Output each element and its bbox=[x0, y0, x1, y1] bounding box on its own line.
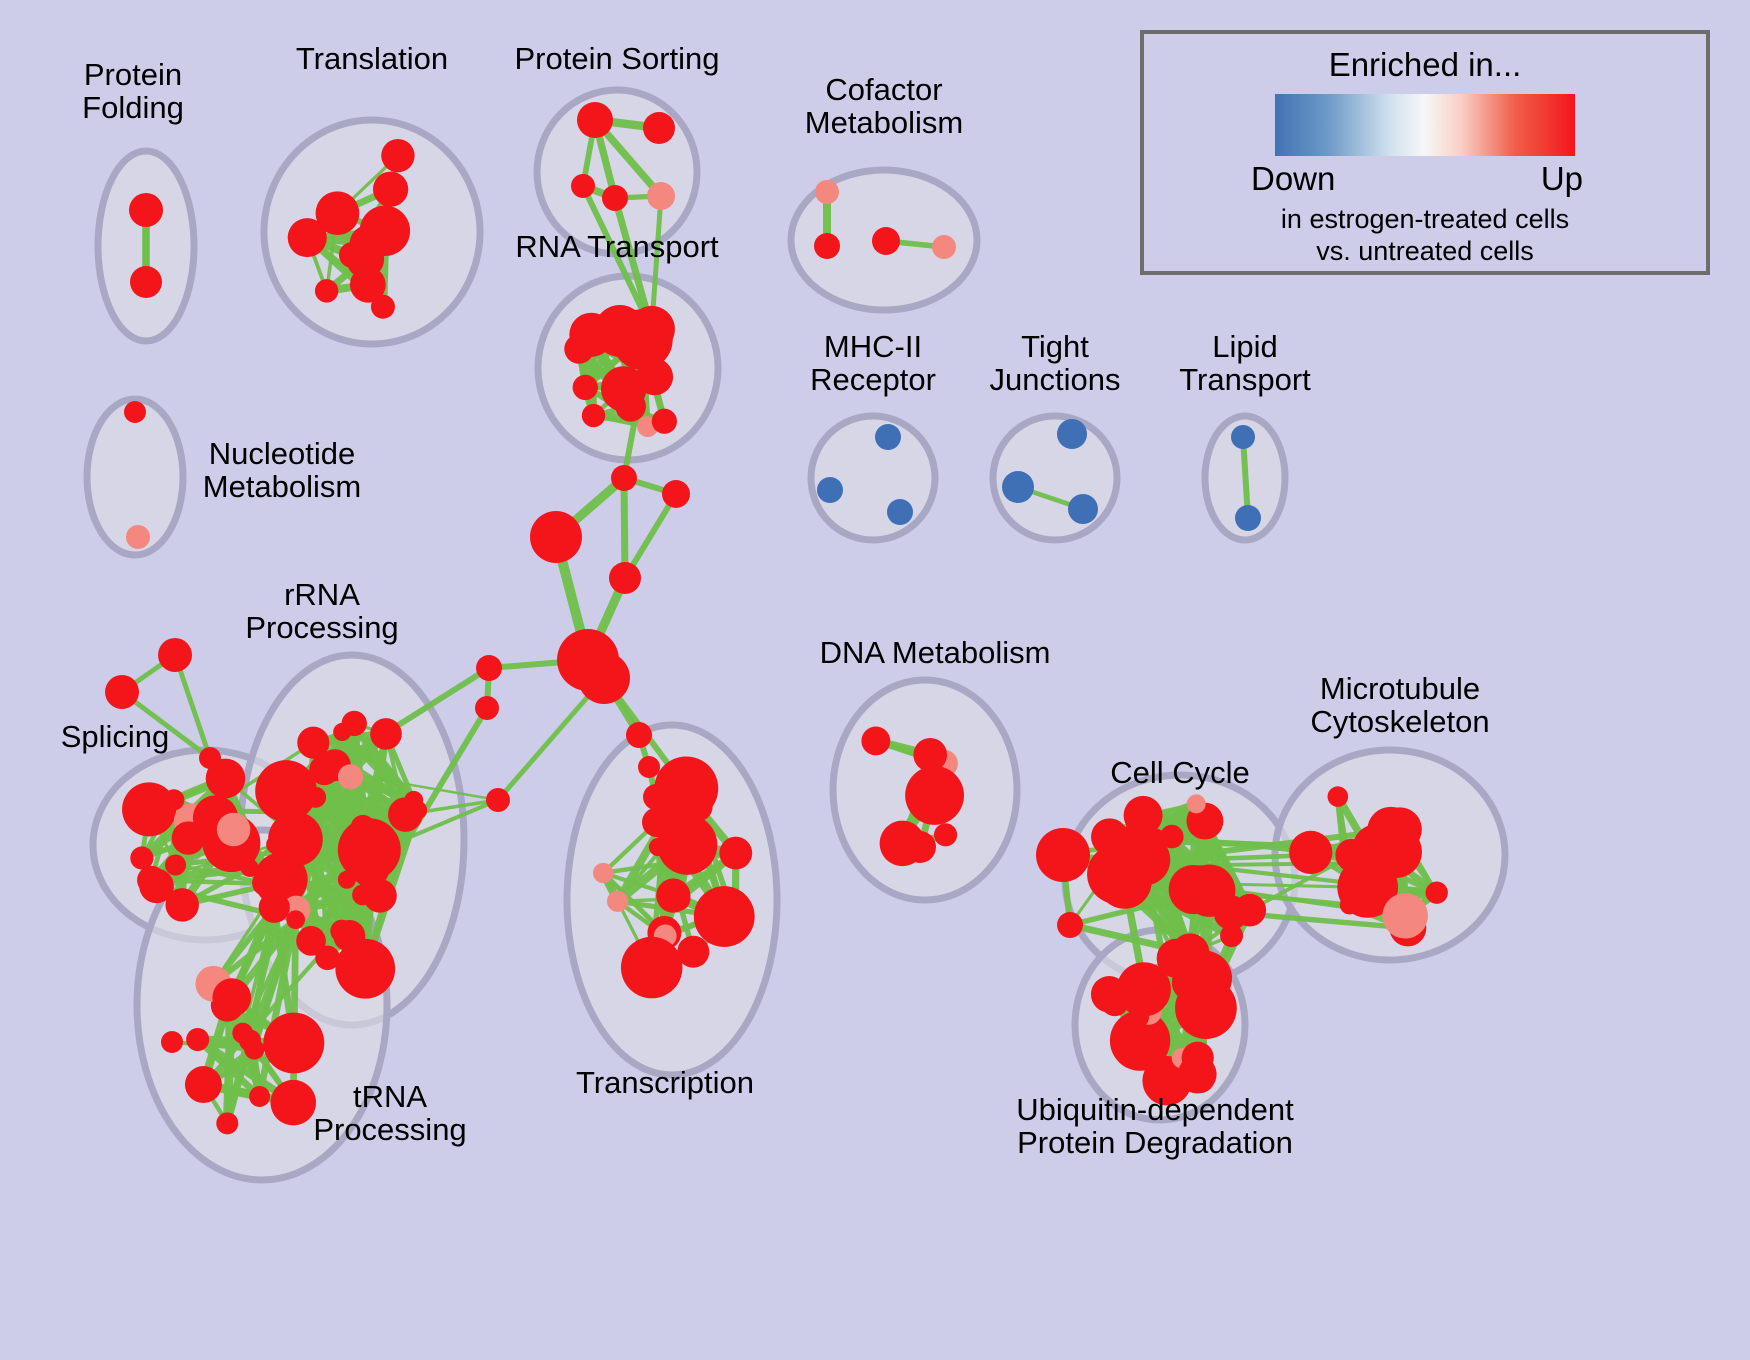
network-node bbox=[404, 791, 423, 810]
legend-caption-line2: vs. untreated cells bbox=[1144, 236, 1706, 266]
legend-color-bar bbox=[1275, 94, 1575, 156]
network-node bbox=[1002, 471, 1034, 503]
legend-title: Enriched in... bbox=[1144, 46, 1706, 84]
cluster-label-nucleotide-metabolism: Nucleotide Metabolism bbox=[203, 437, 362, 504]
network-node bbox=[161, 1031, 183, 1053]
network-node bbox=[1181, 955, 1211, 985]
cluster-label-tight-junctions: Tight Junctions bbox=[990, 330, 1121, 397]
legend-low-label: Down bbox=[1251, 160, 1335, 198]
network-node bbox=[1187, 794, 1206, 813]
network-node bbox=[217, 813, 251, 847]
network-node bbox=[647, 182, 675, 210]
network-node bbox=[330, 920, 353, 943]
network-figure: Protein FoldingTranslationProtein Sortin… bbox=[0, 0, 1750, 1360]
network-node bbox=[370, 718, 402, 750]
network-node bbox=[165, 888, 198, 921]
network-node bbox=[475, 696, 499, 720]
cluster-label-splicing: Splicing bbox=[61, 720, 170, 753]
legend-box: Enriched in... Down Up in estrogen-treat… bbox=[1140, 30, 1710, 275]
network-node bbox=[726, 912, 746, 932]
network-node bbox=[199, 747, 221, 769]
network-node bbox=[315, 946, 340, 971]
network-node bbox=[571, 174, 595, 198]
network-node bbox=[638, 756, 660, 778]
network-node bbox=[626, 722, 652, 748]
cluster-label-lipid-transport: Lipid Transport bbox=[1179, 330, 1311, 397]
network-node bbox=[165, 854, 186, 875]
network-node bbox=[530, 511, 582, 563]
network-node bbox=[1426, 882, 1448, 904]
network-node bbox=[615, 391, 646, 422]
network-node bbox=[315, 279, 338, 302]
network-node bbox=[351, 815, 376, 840]
legend-high-label: Up bbox=[1541, 160, 1583, 198]
network-node bbox=[172, 821, 205, 854]
network-node bbox=[1289, 831, 1332, 874]
network-node bbox=[611, 465, 637, 491]
network-node bbox=[1178, 1055, 1217, 1094]
network-node bbox=[1231, 425, 1255, 449]
cluster-label-rrna-processing: rRNA Processing bbox=[245, 578, 398, 645]
network-node bbox=[286, 910, 305, 929]
cluster-label-translation: Translation bbox=[296, 42, 448, 75]
network-node bbox=[621, 937, 683, 999]
network-node bbox=[249, 1086, 270, 1107]
network-node bbox=[338, 871, 356, 889]
network-node bbox=[607, 891, 628, 912]
network-node bbox=[1130, 1008, 1149, 1027]
network-node bbox=[934, 823, 957, 846]
network-node bbox=[1235, 505, 1261, 531]
cluster-label-dna-metabolism: DNA Metabolism bbox=[820, 636, 1051, 669]
cluster-label-rna-transport: RNA Transport bbox=[515, 230, 718, 263]
network-node bbox=[719, 837, 752, 870]
network-node bbox=[649, 838, 667, 856]
network-node bbox=[263, 1013, 324, 1074]
network-node bbox=[232, 1023, 253, 1044]
network-node bbox=[1068, 494, 1098, 524]
network-node bbox=[1057, 912, 1083, 938]
network-node bbox=[1220, 924, 1243, 947]
network-node bbox=[612, 309, 673, 370]
network-node bbox=[872, 227, 900, 255]
network-node bbox=[643, 784, 669, 810]
network-node bbox=[105, 675, 139, 709]
network-node bbox=[1234, 894, 1267, 927]
network-node bbox=[643, 112, 675, 144]
cluster-label-mhc-ii-receptor: MHC-II Receptor bbox=[810, 330, 936, 397]
network-node bbox=[1335, 839, 1368, 872]
network-node bbox=[339, 242, 365, 268]
network-node bbox=[578, 652, 630, 704]
network-node bbox=[656, 878, 690, 912]
cluster-label-ubiquitin-protein-degradation: Ubiquitin-dependent Protein Degradation bbox=[1016, 1093, 1294, 1160]
network-node bbox=[861, 727, 890, 756]
cluster-label-trna-processing: tRNA Processing bbox=[313, 1080, 466, 1147]
legend-caption-line1: in estrogen-treated cells bbox=[1144, 204, 1706, 234]
network-node bbox=[1036, 828, 1090, 882]
network-node bbox=[486, 788, 510, 812]
network-node bbox=[158, 638, 192, 672]
cluster-label-cofactor-metabolism: Cofactor Metabolism bbox=[805, 73, 964, 140]
network-node bbox=[1169, 865, 1218, 914]
network-node bbox=[124, 401, 146, 423]
network-node bbox=[163, 789, 184, 810]
network-node bbox=[662, 480, 690, 508]
network-node bbox=[185, 1066, 222, 1103]
network-node bbox=[186, 1028, 209, 1051]
cluster-label-cell-cycle: Cell Cycle bbox=[1110, 756, 1250, 789]
network-node bbox=[255, 760, 317, 822]
network-node bbox=[373, 172, 408, 207]
network-node bbox=[297, 727, 329, 759]
network-node bbox=[338, 764, 363, 789]
network-node bbox=[1382, 893, 1427, 938]
network-node bbox=[1134, 1031, 1163, 1060]
network-node bbox=[335, 939, 395, 999]
network-node bbox=[875, 424, 901, 450]
network-node bbox=[593, 863, 613, 883]
network-node bbox=[381, 139, 414, 172]
network-node bbox=[887, 499, 913, 525]
network-node bbox=[682, 791, 713, 822]
network-node bbox=[573, 375, 598, 400]
network-node bbox=[814, 233, 840, 259]
network-node bbox=[582, 404, 605, 427]
network-node bbox=[122, 782, 176, 836]
legend-endpoints: Down Up bbox=[1245, 160, 1605, 202]
network-node bbox=[575, 324, 595, 344]
cluster-label-protein-sorting: Protein Sorting bbox=[514, 42, 719, 75]
network-node bbox=[476, 655, 502, 681]
network-node bbox=[130, 266, 162, 298]
network-node bbox=[642, 808, 671, 837]
network-node bbox=[652, 409, 677, 434]
network-node bbox=[130, 846, 153, 869]
network-edge bbox=[293, 920, 295, 1103]
network-node bbox=[271, 1080, 316, 1125]
cluster-label-microtubule-cytoskeleton: Microtubule Cytoskeleton bbox=[1310, 672, 1489, 739]
network-node bbox=[259, 892, 290, 923]
network-node bbox=[1087, 844, 1147, 904]
cluster-label-protein-folding: Protein Folding bbox=[82, 58, 184, 125]
network-node bbox=[1057, 419, 1087, 449]
network-node bbox=[352, 884, 373, 905]
network-node bbox=[129, 193, 163, 227]
network-node bbox=[694, 886, 755, 947]
network-node bbox=[216, 1112, 238, 1134]
network-node bbox=[602, 185, 628, 211]
network-node bbox=[609, 562, 641, 594]
network-node bbox=[905, 766, 964, 825]
network-node bbox=[126, 525, 150, 549]
network-node bbox=[212, 978, 251, 1017]
cluster-label-transcription: Transcription bbox=[576, 1066, 754, 1099]
network-node bbox=[1102, 987, 1125, 1010]
network-node bbox=[333, 723, 351, 741]
network-node bbox=[904, 831, 936, 863]
network-node bbox=[815, 180, 839, 204]
network-node bbox=[577, 102, 613, 138]
network-node bbox=[316, 191, 360, 235]
network-node bbox=[266, 835, 285, 854]
network-node bbox=[371, 295, 395, 319]
network-node bbox=[817, 477, 843, 503]
network-node bbox=[1328, 786, 1349, 807]
network-node bbox=[932, 235, 956, 259]
